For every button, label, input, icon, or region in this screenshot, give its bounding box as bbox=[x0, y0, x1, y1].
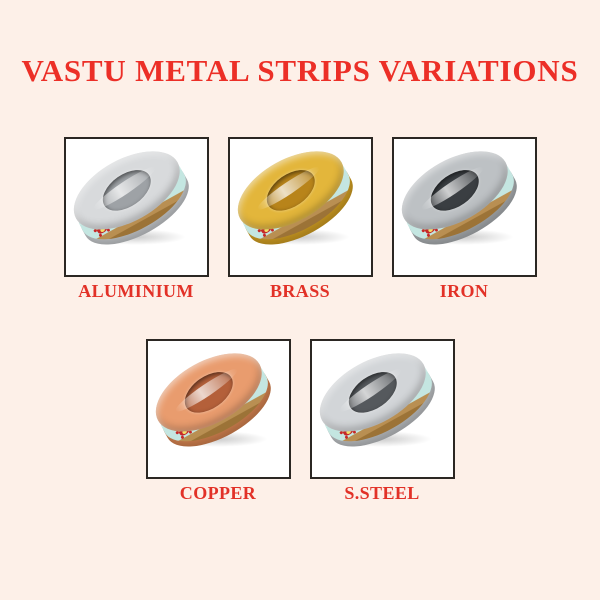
product-image-frame[interactable] bbox=[392, 137, 537, 277]
product-cell-brass[interactable]: BRASS bbox=[228, 137, 373, 302]
roll-center-hole bbox=[423, 162, 486, 219]
tape-roll-image bbox=[72, 143, 200, 271]
product-label: ALUMINIUM bbox=[78, 282, 194, 302]
product-image-frame[interactable] bbox=[310, 339, 455, 479]
tape-roll-image bbox=[318, 345, 446, 473]
product-image-frame[interactable] bbox=[64, 137, 209, 277]
tape-roll-image bbox=[400, 143, 528, 271]
product-row-bottom: COPPERS.STEEL bbox=[0, 339, 600, 504]
roll-center-hole bbox=[341, 364, 404, 421]
roll-center-hole bbox=[95, 162, 158, 219]
product-image-frame[interactable] bbox=[228, 137, 373, 277]
roll-body bbox=[146, 339, 291, 479]
poster-canvas: VASTU METAL STRIPS VARIATIONS ALUMINIUMB… bbox=[0, 0, 600, 600]
product-cell-copper[interactable]: COPPER bbox=[146, 339, 291, 504]
product-cell-aluminium[interactable]: ALUMINIUM bbox=[64, 137, 209, 302]
roll-center-hole bbox=[259, 162, 322, 219]
product-label: IRON bbox=[440, 282, 489, 302]
roll-center-hole bbox=[177, 364, 240, 421]
page-title: VASTU METAL STRIPS VARIATIONS bbox=[0, 55, 600, 86]
tape-roll-image bbox=[154, 345, 282, 473]
roll-body bbox=[64, 137, 209, 277]
product-cell-ssteel[interactable]: S.STEEL bbox=[310, 339, 455, 504]
roll-body bbox=[228, 137, 373, 277]
tape-roll-image bbox=[236, 143, 364, 271]
product-image-frame[interactable] bbox=[146, 339, 291, 479]
product-cell-iron[interactable]: IRON bbox=[392, 137, 537, 302]
roll-body bbox=[392, 137, 537, 277]
product-label: COPPER bbox=[180, 484, 256, 504]
product-row-top: ALUMINIUMBRASSIRON bbox=[0, 137, 600, 302]
roll-body bbox=[310, 339, 455, 479]
product-label: S.STEEL bbox=[344, 484, 419, 504]
product-label: BRASS bbox=[270, 282, 330, 302]
